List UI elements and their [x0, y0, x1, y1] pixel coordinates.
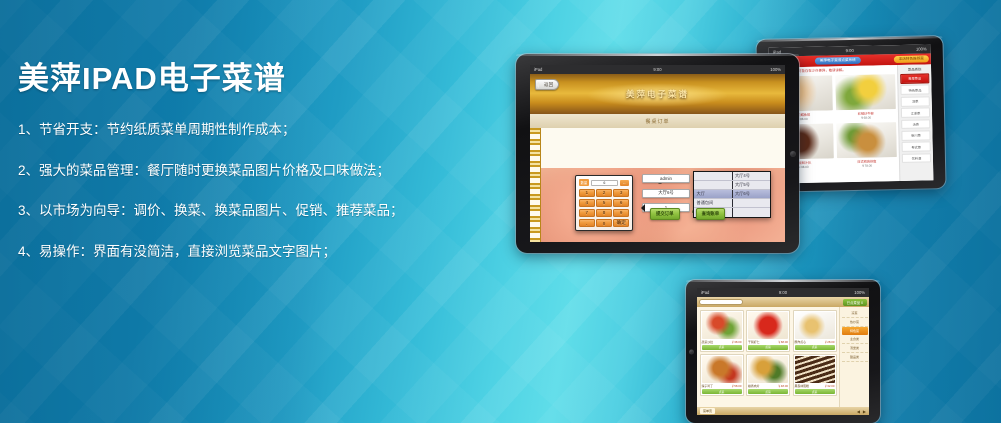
dish-price: ￥58.00: [731, 384, 741, 388]
category-item[interactable]: 凉菜: [842, 309, 868, 318]
menu-card-meta: 黑森林蛋糕 ￥32.00: [795, 384, 835, 388]
menu-footer: 菜单页 ◀ ▶: [697, 407, 869, 415]
category-item[interactable]: 饮料酒: [902, 153, 931, 163]
category-item[interactable]: 汤羹类: [842, 344, 868, 353]
next-icon[interactable]: ▶: [863, 409, 866, 414]
category-sidebar: 菜品类别 推荐菜品 特色菜品 凉菜 江浙菜 汤类 新川菜 粤式菜 饮料酒: [897, 64, 933, 181]
dish-image: [748, 356, 788, 383]
backspace-icon[interactable]: [620, 180, 629, 186]
menu-card[interactable]: 黑森林蛋糕 ￥32.00 点菜: [793, 354, 837, 396]
keypad-grid: 1 2 3 4 5 6 7 8 9 . 0 确定: [579, 189, 629, 228]
table-row[interactable]: 大厅4号: [694, 172, 770, 181]
numeric-keypad[interactable]: 数量 6 1 2 3 4 5 6 7 8: [575, 175, 633, 231]
keypad-key[interactable]: 7: [579, 209, 595, 218]
feature-bullet-4: 4、易操作：界面有没简洁，直接浏览菜品文字图片；: [18, 245, 448, 259]
status-time: 9:00: [697, 290, 869, 295]
table-field[interactable]: 大厅6号: [642, 189, 690, 198]
menu-card[interactable]: 椒香肉片 ￥48.00 点菜: [746, 354, 790, 396]
menu-card-meta: 椒香肉片 ￥48.00: [748, 384, 788, 388]
submit-order-button[interactable]: 提交订单: [650, 208, 680, 220]
category-item[interactable]: 主食类: [842, 335, 868, 344]
dish-image: [795, 312, 835, 339]
menu-body: 蔬菜沙拉 ￥38.00 点菜 干锅虾仁 ￥68.00: [697, 307, 869, 407]
home-button[interactable]: [790, 151, 796, 157]
header-center-pill[interactable]: 美萍电子菜谱点菜系统: [815, 57, 861, 65]
dish-price: ￥78.00: [837, 163, 898, 168]
ordering-content: 数量 6 1 2 3 4 5 6 7 8: [530, 128, 785, 242]
sub-header: 餐桌订单: [530, 114, 785, 128]
dish-card[interactable]: 彩椒炒牛柳 ￥68.00: [835, 74, 896, 120]
table-cell-name: 大厅4号: [733, 172, 771, 180]
menu-card-meta: 干锅虾仁 ￥68.00: [748, 340, 788, 344]
menu-toolbar: 已点菜品 0: [697, 297, 869, 307]
dish-price: ￥28.00: [824, 340, 834, 344]
dish-image: [702, 312, 742, 339]
add-dish-button[interactable]: 点菜: [702, 345, 742, 350]
keypad-key[interactable]: 4: [579, 199, 595, 208]
table-cell-area: [694, 172, 733, 180]
menu-card-meta: 蔬菜沙拉 ￥38.00: [702, 340, 742, 344]
keypad-field-label: 数量: [579, 179, 589, 186]
dish-image: [836, 122, 897, 158]
tablet-bezel: iPad 9:00 100% 返回 美萍电子菜谱 餐桌订单: [516, 54, 799, 253]
menu-card[interactable]: 干锅虾仁 ￥68.00 点菜: [746, 310, 790, 352]
tablet-bottomright-screen: iPad 9:00 100% 已点菜品 0 蔬菜沙拉: [697, 288, 869, 415]
dish-price: ￥68.00: [778, 340, 788, 344]
dish-name: 干锅虾仁: [748, 340, 760, 344]
tablet-main-ordering: iPad 9:00 100% 返回 美萍电子菜谱 餐桌订单: [516, 54, 799, 253]
menu-card[interactable]: 辣子鸡丁 ￥58.00 点菜: [700, 354, 744, 396]
table-cell-area: 普通包间: [694, 199, 733, 207]
dish-image: [795, 356, 835, 383]
field-user-wrap: admin: [642, 174, 690, 183]
table-cell-name: [733, 199, 771, 207]
table-cell-area: 大厅: [694, 190, 733, 198]
promo-banner: 美萍IPAD电子菜谱 1、节省开支：节约纸质菜单周期性制作成本； 2、强大的菜品…: [0, 0, 1001, 423]
add-dish-button[interactable]: 点菜: [702, 389, 742, 394]
keypad-display-row: 数量 6: [579, 179, 629, 186]
add-dish-button[interactable]: 点菜: [795, 345, 835, 350]
category-item[interactable]: 粤式菜: [902, 142, 931, 152]
dish-name: 辣子鸡丁: [702, 384, 714, 388]
app-header: 返回 美萍电子菜谱: [530, 74, 785, 114]
add-dish-button[interactable]: 点菜: [748, 389, 788, 394]
table-cell-name: [733, 208, 771, 217]
keypad-display[interactable]: 6: [591, 180, 618, 186]
ios-status-bar: iPad 9:00 100%: [697, 288, 869, 297]
dish-price: ￥38.00: [731, 340, 741, 344]
tablet-menu-grid: iPad 9:00 100% 已点菜品 0 蔬菜沙拉: [686, 280, 880, 423]
action-buttons: 提交订单 查询账单: [650, 208, 725, 220]
decorative-greek-border: [530, 128, 541, 242]
dish-image: [835, 74, 896, 110]
category-item[interactable]: 凉菜: [901, 96, 930, 106]
category-item[interactable]: 汤类: [901, 119, 930, 129]
table-cell-name: 大厅5号: [733, 181, 771, 189]
dish-name: 黑森林蛋糕: [795, 384, 809, 388]
keypad-key-confirm[interactable]: 确定: [613, 219, 629, 228]
keypad-key[interactable]: 0: [596, 219, 612, 228]
table-row-selected[interactable]: 大厅 大厅6号: [694, 190, 770, 199]
keypad-key[interactable]: .: [579, 219, 595, 228]
home-button[interactable]: [689, 349, 694, 354]
dish-card[interactable]: 日式照烧拼盘 ￥78.00: [836, 122, 897, 168]
dish-price: ￥68.00: [836, 115, 897, 120]
feature-bullet-3: 3、以市场为向导：调价、换菜、换菜品图片、促销、推荐菜品；: [18, 204, 448, 218]
header-right-pill[interactable]: 本店特色推荐菜: [894, 55, 929, 63]
category-item[interactable]: 新川菜: [901, 130, 930, 140]
ios-status-bar: iPad 9:00 100%: [530, 65, 785, 74]
category-sidebar-title: 菜品类别: [900, 66, 929, 72]
dish-name: 酥炸点心: [795, 340, 807, 344]
menu-card-meta: 酥炸点心 ￥28.00: [795, 340, 835, 344]
back-button[interactable]: 返回: [535, 79, 559, 90]
dish-price: ￥48.00: [778, 384, 788, 388]
menu-grid: 蔬菜沙拉 ￥38.00 点菜 干锅虾仁 ￥68.00: [700, 310, 837, 397]
feature-bullet-1: 1、节省开支：节约纸质菜单周期性制作成本；: [18, 123, 448, 137]
tablet-bezel: iPad 9:00 100% 已点菜品 0 蔬菜沙拉: [686, 280, 880, 423]
cart-button[interactable]: 已点菜品 0: [843, 299, 867, 306]
page-title: 美萍IPAD电子菜谱: [18, 62, 448, 96]
table-cell-area: [694, 181, 733, 189]
status-time: 9:00: [530, 67, 785, 72]
category-item[interactable]: 热炒菜: [842, 318, 868, 327]
table-row[interactable]: 普通包间: [694, 199, 770, 208]
keypad-key[interactable]: 1: [579, 189, 595, 198]
page-tag: 菜单页: [700, 408, 715, 413]
keypad-key[interactable]: 2: [596, 189, 612, 198]
field-table-wrap: 大厅6号: [642, 189, 690, 198]
table-row[interactable]: 大厅5号: [694, 181, 770, 190]
menu-card[interactable]: 蔬菜沙拉 ￥38.00 点菜: [700, 310, 744, 352]
add-dish-button[interactable]: 点菜: [748, 345, 788, 350]
query-bill-button[interactable]: 查询账单: [696, 208, 726, 220]
search-input[interactable]: [699, 299, 743, 305]
sub-title: 餐桌订单: [645, 118, 669, 125]
dish-name: 蔬菜沙拉: [702, 340, 714, 344]
category-item[interactable]: 甜品类: [842, 353, 868, 362]
feature-bullet-2: 2、强大的菜品管理：餐厅随时更换菜品图片价格及口味做法；: [18, 164, 448, 178]
category-item[interactable]: 特色菜品: [900, 85, 929, 95]
dish-name: 椒香肉片: [748, 384, 760, 388]
add-dish-button[interactable]: 点菜: [795, 389, 835, 394]
table-cell-name: 大厅6号: [733, 190, 771, 198]
dish-price: ￥32.00: [824, 384, 834, 388]
menu-card-meta: 辣子鸡丁 ￥58.00: [702, 384, 742, 388]
keypad-key[interactable]: 8: [596, 209, 612, 218]
dish-image: [748, 312, 788, 339]
dish-image: [702, 356, 742, 383]
user-field[interactable]: admin: [642, 174, 690, 183]
menu-grid-area: 蔬菜沙拉 ￥38.00 点菜 干锅虾仁 ￥68.00: [697, 307, 839, 407]
keypad-key[interactable]: 5: [596, 199, 612, 208]
menu-card[interactable]: 酥炸点心 ￥28.00 点菜: [793, 310, 837, 352]
tablet-main-screen: iPad 9:00 100% 返回 美萍电子菜谱 餐桌订单: [530, 65, 785, 242]
keypad-key[interactable]: 3: [613, 189, 629, 198]
marketing-copy: 美萍IPAD电子菜谱 1、节省开支：节约纸质菜单周期性制作成本； 2、强大的菜品…: [18, 62, 448, 258]
menu-category-sidebar: 凉菜 热炒菜 特色菜 主食类 汤羹类 甜品类: [839, 307, 869, 407]
pagination-controls: ◀ ▶: [857, 409, 866, 414]
app-title: 美萍电子菜谱: [626, 88, 689, 100]
category-item-active[interactable]: 推荐菜品: [900, 73, 929, 83]
category-item-active[interactable]: 特色菜: [842, 327, 868, 335]
keypad-key[interactable]: 9: [613, 209, 629, 218]
category-item[interactable]: 江浙菜: [901, 107, 930, 117]
prev-icon[interactable]: ◀: [857, 409, 860, 414]
keypad-key[interactable]: 6: [613, 199, 629, 208]
